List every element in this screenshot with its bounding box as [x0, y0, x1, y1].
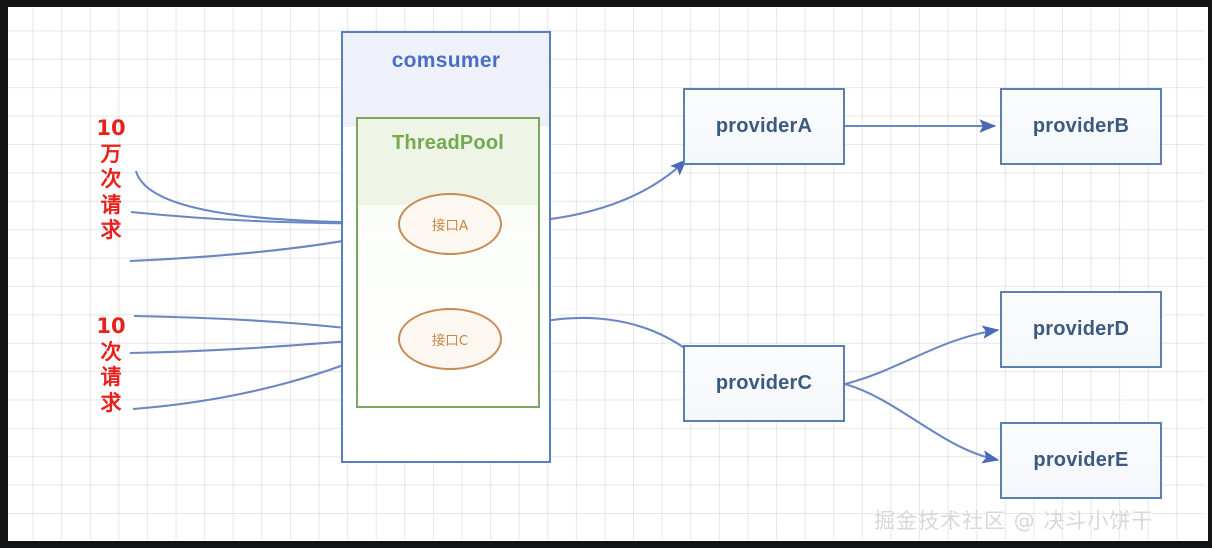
consumer-title: comsumer: [343, 33, 549, 73]
provider-c-node[interactable]: providerC: [683, 345, 845, 422]
watermark-text: 掘金技术社区 @ 决斗小饼干: [874, 505, 1153, 535]
threadpool-title: ThreadPool: [358, 119, 538, 155]
consumer-container[interactable]: comsumer ThreadPool 接口A 接口C: [341, 31, 551, 463]
provider-b-node[interactable]: providerB: [1000, 88, 1162, 165]
diagram-canvas: 10 万 次 请 求 10 次 请 求 comsumer ThreadPool …: [0, 0, 1212, 548]
provider-d-label: providerD: [1033, 318, 1129, 341]
interface-c-node[interactable]: 接口C: [398, 308, 502, 370]
provider-a-node[interactable]: providerA: [683, 88, 845, 165]
provider-d-node[interactable]: providerD: [1000, 291, 1162, 368]
request-label-100k: 10 万 次 请 求: [96, 116, 126, 244]
provider-a-label: providerA: [716, 115, 812, 138]
provider-b-label: providerB: [1033, 115, 1129, 138]
provider-e-node[interactable]: providerE: [1000, 422, 1162, 499]
provider-c-label: providerC: [716, 372, 812, 395]
interface-a-node[interactable]: 接口A: [398, 193, 502, 255]
request-label-10: 10 次 请 求: [96, 314, 126, 416]
provider-e-label: providerE: [1033, 449, 1128, 472]
wire-providerC-to-providerD: [845, 330, 998, 384]
wire-providerC-to-providerE: [845, 384, 998, 460]
interface-a-label: 接口A: [432, 214, 468, 234]
interface-c-label: 接口C: [432, 329, 468, 349]
